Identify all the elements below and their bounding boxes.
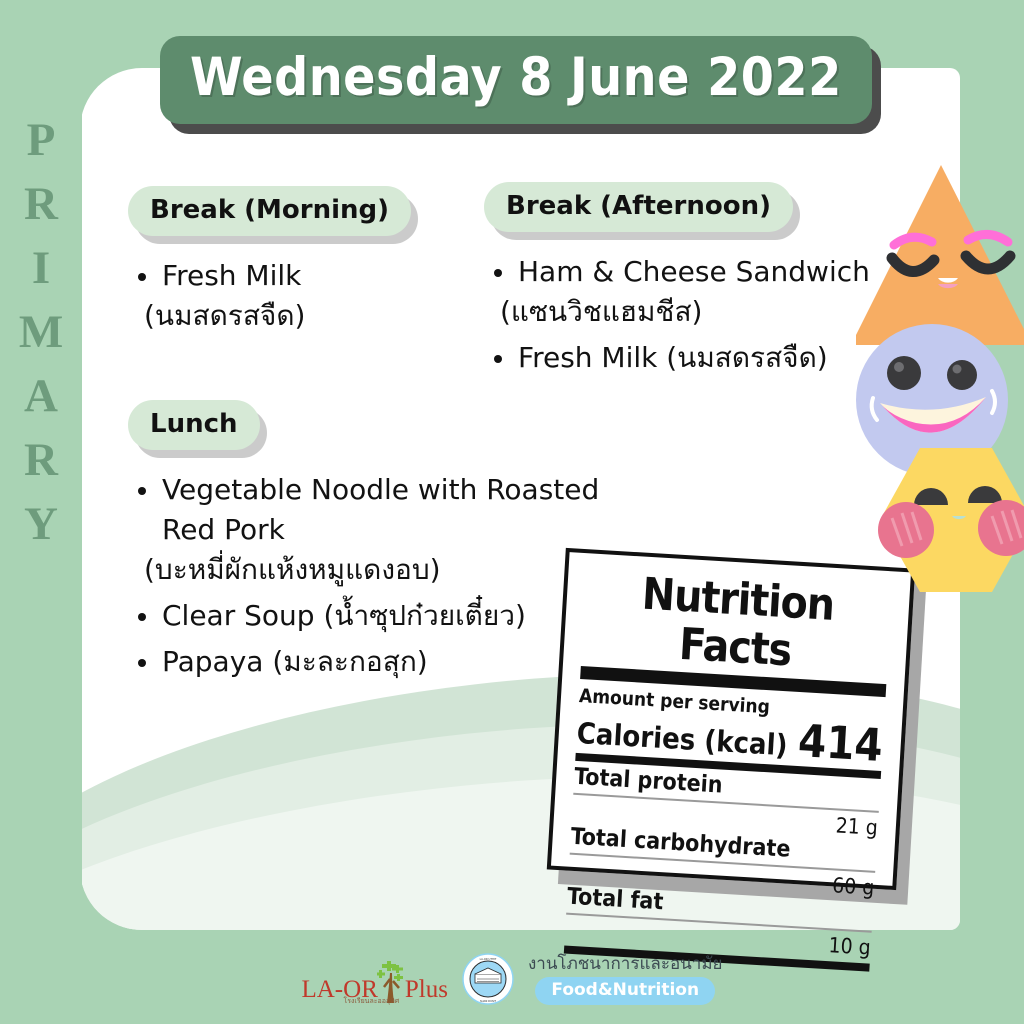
section-break-morning: Break (Morning) Fresh Milk (นมสดรสจืด) — [128, 186, 458, 342]
sidebar-letter: Y — [24, 492, 58, 556]
section-heading-label: Lunch — [150, 409, 238, 439]
meal-name-th: (นมสดรสจืด) — [144, 296, 458, 336]
meal-name-en: Fresh Milk — [162, 259, 301, 292]
meal-name-en: Fresh Milk (นมสดรสจืด) — [518, 341, 828, 374]
meal-item-list: Vegetable Noodle with Roasted Red Pork (… — [128, 470, 628, 682]
logo-subtitle: โรงเรียนละอออุทิศ — [343, 996, 399, 1007]
meal-name-en: Ham & Cheese Sandwich — [518, 255, 870, 288]
section-lunch: Lunch Vegetable Noodle with Roasted Red … — [128, 400, 628, 688]
list-item: Papaya (มะละกอสุก) — [128, 642, 628, 682]
list-item: Vegetable Noodle with Roasted Red Pork (… — [128, 470, 628, 590]
date-banner: Wednesday 8 June 2022 — [160, 36, 872, 124]
svg-text:SUAN DUSIT: SUAN DUSIT — [480, 999, 496, 1003]
nutrition-title: Nutrition Facts — [581, 567, 892, 681]
section-heading-label: Break (Morning) — [150, 195, 389, 225]
meal-name-en: Vegetable Noodle with Roasted Red Pork — [162, 473, 599, 546]
meal-name-th: (บะหมี่ผักแห้งหมูแดงอบ) — [144, 550, 628, 590]
section-heading-badge: Lunch — [128, 400, 260, 450]
sidebar-primary-label: P R I M A R Y — [0, 0, 82, 1024]
mascot-group — [856, 160, 1024, 600]
section-break-afternoon: Break (Afternoon) Ham & Cheese Sandwich … — [484, 182, 904, 384]
section-heading-label: Break (Afternoon) — [506, 191, 771, 221]
sidebar-letter: R — [24, 172, 58, 236]
page-title: Wednesday 8 June 2022 — [190, 49, 842, 107]
sidebar-letter: A — [24, 364, 58, 428]
meal-name-en: Clear Soup (น้ำซุปก๋วยเตี๋ยว) — [162, 599, 526, 632]
badge-body: Break (Morning) — [128, 186, 411, 236]
meal-name-en: Papaya (มะละกอสุก) — [162, 645, 428, 678]
laor-plus-logo: LA-OR Plus โรงเรียนละอออุทิศ — [301, 953, 447, 1005]
section-heading-badge: Break (Afternoon) — [484, 182, 793, 232]
footer-text-group: งานโภชนาการและอนามัย Food&Nutrition — [528, 954, 723, 1005]
date-banner-body: Wednesday 8 June 2022 — [160, 36, 872, 124]
meal-name-th: (แซนวิชแฮมชีส) — [500, 292, 904, 332]
meal-item-list: Fresh Milk (นมสดรสจืด) — [128, 256, 458, 336]
footer: LA-OR Plus โรงเรียนละอออุทิศ — [0, 934, 1024, 1024]
sidebar-letter: M — [19, 300, 63, 364]
badge-body: Lunch — [128, 400, 260, 450]
badge-body: Break (Afternoon) — [484, 182, 793, 232]
sidebar-letter: R — [24, 428, 58, 492]
calories-value: 414 — [797, 720, 884, 767]
poster-canvas: P R I M A R Y Wednesday 8 June 2022 Brea… — [0, 0, 1024, 1024]
list-item: Fresh Milk (นมสดรสจืด) — [128, 256, 458, 336]
svg-text:LA-OR UTHIT: LA-OR UTHIT — [480, 957, 497, 961]
section-heading-badge: Break (Morning) — [128, 186, 411, 236]
sidebar-letter: I — [32, 236, 50, 300]
footer-thai-label: งานโภชนาการและอนามัย — [528, 954, 723, 974]
list-item: Ham & Cheese Sandwich (แซนวิชแฮมชีส) — [484, 252, 904, 332]
food-nutrition-badge-label: Food&Nutrition — [551, 980, 699, 1000]
yellow-hexagon-blushing-icon — [878, 448, 1024, 592]
sidebar-letter: P — [27, 108, 56, 172]
list-item: Fresh Milk (นมสดรสจืด) — [484, 338, 904, 378]
food-nutrition-badge: Food&Nutrition — [535, 977, 715, 1005]
orange-triangle-sleepy-icon — [856, 165, 1024, 345]
meal-item-list: Ham & Cheese Sandwich (แซนวิชแฮมชีส) Fre… — [484, 252, 904, 378]
logo-secondary-text: Plus — [405, 975, 448, 1005]
list-item: Clear Soup (น้ำซุปก๋วยเตี๋ยว) — [128, 596, 628, 636]
school-seal-icon: LA-OR UTHIT SUAN DUSIT — [462, 953, 514, 1005]
